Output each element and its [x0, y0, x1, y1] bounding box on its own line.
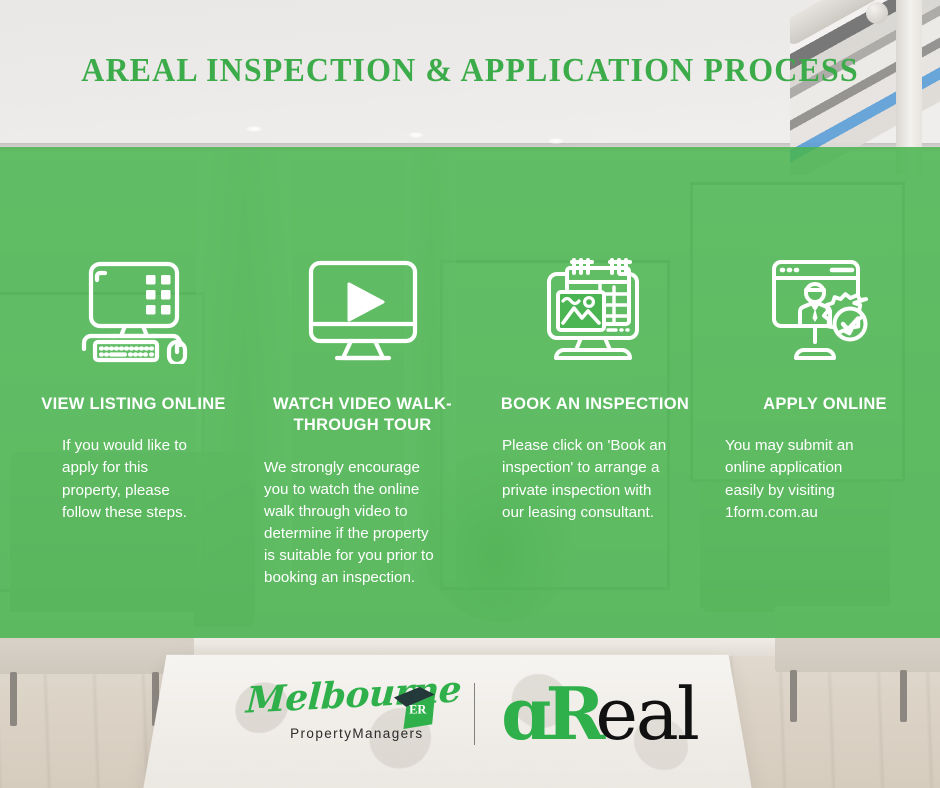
- desktop-computer-icon: [75, 252, 193, 370]
- calendar-photo-monitor-icon: [536, 252, 654, 370]
- step-heading: BOOK AN INSPECTION: [501, 394, 689, 415]
- step-body: Please click on 'Book an inspection' to …: [502, 435, 677, 523]
- video-monitor-play-icon: [303, 252, 423, 370]
- areal-logo: ɑR eal: [501, 672, 702, 756]
- footer-logo-row: Melbourne PropertyManagers ER ɑR eal: [0, 672, 940, 756]
- step-body: If you would like to apply for this prop…: [62, 435, 202, 523]
- step-heading: APPLY ONLINE: [763, 394, 887, 415]
- page-title: AREAL INSPECTION & APPLICATION PROCESS: [28, 52, 912, 90]
- step-heading: VIEW LISTING ONLINE: [41, 394, 225, 415]
- step-card-book-inspection: BOOK AN INSPECTION Please click on 'Book…: [480, 252, 710, 524]
- ceiling-downlight-3: [408, 132, 424, 138]
- blind-knob: [866, 2, 888, 24]
- steps-row: VIEW LISTING ONLINE If you would like to…: [0, 252, 940, 589]
- roof-monogram-icon: ER: [384, 686, 442, 730]
- areal-rest-text: eal: [595, 678, 698, 750]
- ceiling-downlight-2: [548, 138, 564, 144]
- step-heading: WATCH VIDEO WALK-THROUGH TOUR: [245, 394, 480, 437]
- ceiling-downlight-1: [246, 126, 262, 132]
- step-body: You may submit an online application eas…: [725, 435, 869, 523]
- melbourne-property-managers-logo: Melbourne PropertyManagers ER: [238, 672, 448, 756]
- step-card-view-listing: VIEW LISTING ONLINE If you would like to…: [0, 252, 245, 524]
- online-application-gear-icon: [762, 252, 888, 370]
- step-card-apply-online: APPLY ONLINE You may submit an online ap…: [710, 252, 940, 524]
- step-body: We strongly encourage you to watch the o…: [264, 457, 442, 589]
- logo-divider: [474, 683, 475, 745]
- step-card-watch-video: WATCH VIDEO WALK-THROUGH TOUR We strongl…: [245, 252, 480, 589]
- infographic-canvas: AREAL INSPECTION & APPLICATION PROCESS: [0, 0, 940, 788]
- areal-mark-text: ɑR: [501, 678, 599, 750]
- svg-text:ER: ER: [409, 703, 427, 717]
